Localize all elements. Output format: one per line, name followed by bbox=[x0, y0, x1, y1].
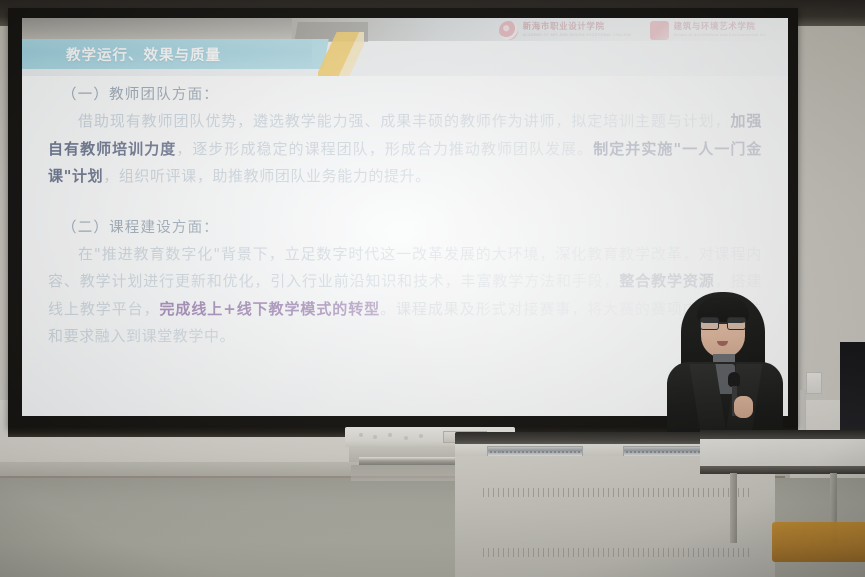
slide-header: 教学运行、效果与质量 新海市职业设计学院 ACADEMY OF ART AND … bbox=[22, 18, 788, 76]
chair bbox=[772, 522, 865, 562]
slide-text-run: ，组织听评课，助推教师团队业务能力的提升。 bbox=[103, 167, 431, 185]
slide-title: 教学运行、效果与质量 bbox=[22, 44, 221, 65]
section-1-heading: （一）教师团队方面： bbox=[48, 82, 762, 108]
side-table bbox=[700, 430, 865, 577]
slide-logos: 新海市职业设计学院 ACADEMY OF ART AND DESIGN VOCA… bbox=[499, 21, 766, 40]
slide-section-1: （一）教师团队方面： 借助现有教师团队优势，遴选教学能力强、成果丰硕的教师作为讲… bbox=[48, 82, 762, 191]
slide-text-run: 借助现有教师团队优势，遴选教学能力强、成果丰硕的教师作为讲师，拟定培训主题与计划… bbox=[78, 112, 730, 130]
podium-screw bbox=[499, 450, 502, 453]
side-table-leg bbox=[730, 473, 737, 543]
slide-text-run: 整合教学资源 bbox=[619, 272, 714, 290]
shield-seal-icon bbox=[650, 21, 669, 40]
slide-text-run: ，逐步形成稳定的课程团队，形成合力推动教师团队发展。 bbox=[176, 140, 593, 158]
logo-school-en: School of Architecture and Environmental… bbox=[674, 34, 766, 38]
section-1-text: 借助现有教师团队优势，遴选教学能力强、成果丰硕的教师作为讲师，拟定培训主题与计划… bbox=[48, 108, 762, 191]
section-2-heading: （二）课程建设方面： bbox=[48, 215, 762, 241]
lecture-hall-photo: 教学运行、效果与质量 新海市职业设计学院 ACADEMY OF ART AND … bbox=[0, 0, 865, 577]
wall-outlet-plate bbox=[806, 372, 822, 394]
side-table-edge bbox=[700, 466, 865, 474]
slide-text-run: 完成线上+线下教学模式的转型 bbox=[160, 300, 381, 318]
section-spacer bbox=[48, 193, 762, 215]
ribbon-yellow-accent bbox=[318, 32, 364, 76]
swirl-seal-icon bbox=[499, 21, 518, 40]
slide-title-ribbon: 教学运行、效果与质量 bbox=[22, 39, 318, 69]
logo-academy-cn: 新海市职业设计学院 bbox=[523, 23, 632, 32]
logo-academy: 新海市职业设计学院 ACADEMY OF ART AND DESIGN VOCA… bbox=[499, 21, 632, 40]
glasses-icon bbox=[700, 317, 746, 330]
lectern-left-controls bbox=[357, 433, 435, 442]
side-table-surface bbox=[700, 439, 865, 467]
logo-academy-en: ACADEMY OF ART AND DESIGN VOCATIONAL COL… bbox=[523, 34, 632, 38]
presenter-hand bbox=[734, 396, 753, 418]
logo-school: 建筑与环境艺术学院 School of Architecture and Env… bbox=[650, 21, 766, 40]
logo-school-cn: 建筑与环境艺术学院 bbox=[674, 23, 766, 32]
